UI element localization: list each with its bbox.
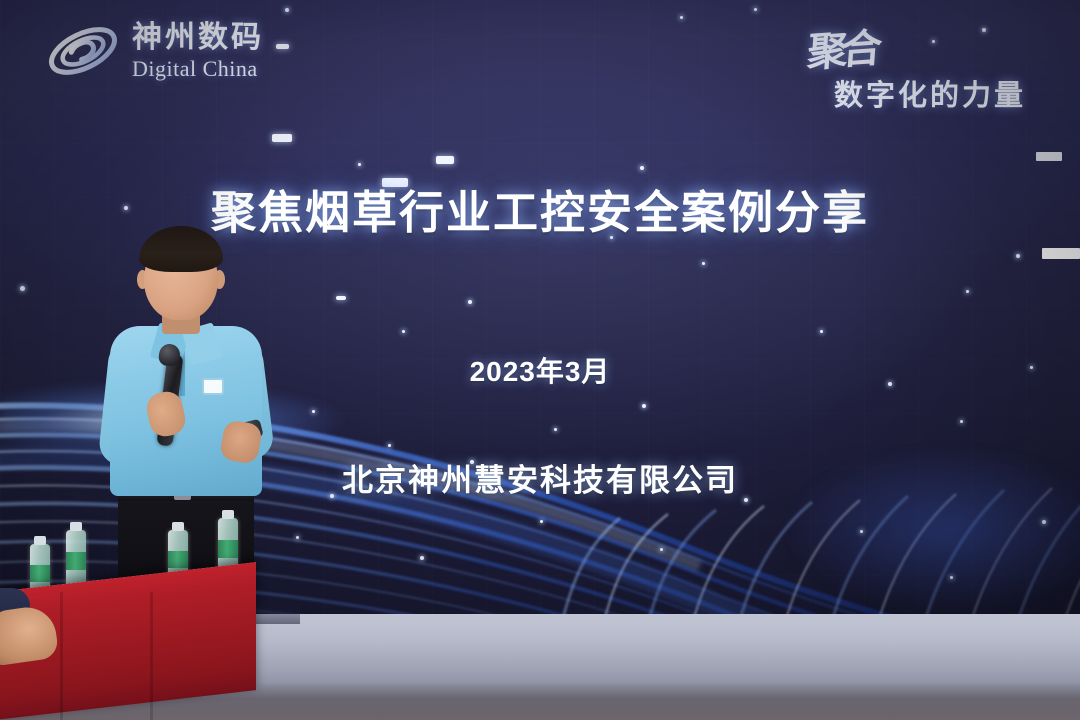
swirl-galaxy-icon: [44, 20, 122, 82]
event-calligraphy: 聚合: [806, 16, 879, 79]
screen-edge-marker: [1042, 248, 1080, 259]
digital-china-logo: 神州数码 Digital China: [44, 20, 264, 82]
table-cloth-fold: [60, 592, 63, 720]
bottle-label: [168, 551, 188, 568]
bottle-cap: [34, 536, 46, 545]
brand-name-cn: 神州数码: [132, 23, 264, 53]
screen-edge-marker-secondary: [1036, 152, 1062, 161]
bottle-cap: [70, 522, 82, 531]
event-logo: 聚合 数字化的力量: [786, 18, 1056, 118]
event-tagline: 数字化的力量: [834, 72, 1026, 114]
bottle-label: [30, 565, 50, 582]
bottle-cap: [222, 510, 234, 519]
bottle-label: [66, 552, 86, 570]
presenter-hair: [139, 226, 223, 272]
brand-name-en: Digital China: [132, 58, 264, 80]
bottle-cap: [172, 522, 184, 531]
table-cloth-fold: [150, 592, 153, 720]
bottle-label: [218, 540, 238, 558]
shirt-chest-logo: [202, 378, 224, 395]
presenter-polo-shirt: [110, 326, 262, 496]
conference-photo: 聚焦烟草行业工控安全案例分享 2023年3月 北京神州慧安科技有限公司 神州数码…: [0, 0, 1080, 720]
